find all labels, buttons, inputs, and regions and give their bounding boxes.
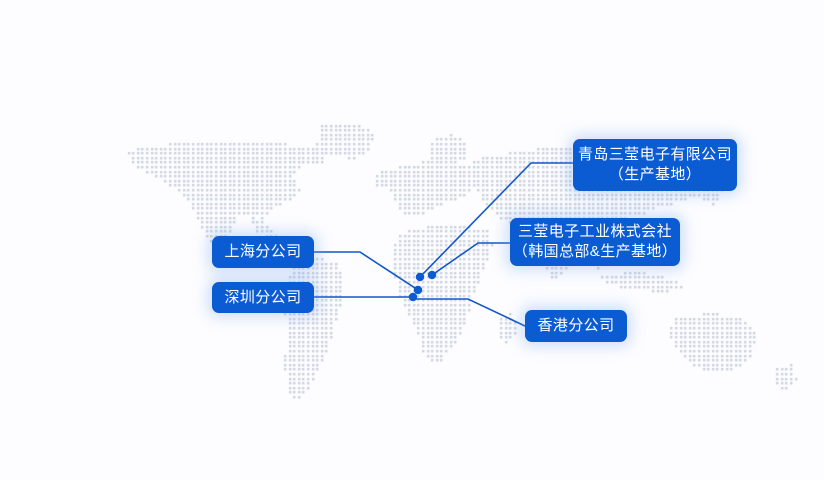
marker-shanghai-icon[interactable] xyxy=(414,286,422,294)
label-line-primary: 青岛三莹电子有限公司 xyxy=(578,145,732,165)
label-line-primary: 上海分公司 xyxy=(224,242,301,262)
location-label-shanghai-branch[interactable]: 上海分公司 xyxy=(212,236,314,268)
marker-korea-icon[interactable] xyxy=(428,271,436,279)
label-line-primary: 深圳分公司 xyxy=(224,288,301,308)
location-markers xyxy=(0,0,824,480)
location-label-hongkong-branch[interactable]: 香港分公司 xyxy=(525,310,627,342)
world-map-diagram: 青岛三莹电子有限公司（生产基地）三莹电子工业株式会社（韩国总部&生产基地）上海分… xyxy=(0,0,824,480)
location-label-qingdao-factory[interactable]: 青岛三莹电子有限公司（生产基地） xyxy=(573,139,737,191)
location-label-shenzhen-branch[interactable]: 深圳分公司 xyxy=(212,282,314,313)
location-label-korea-headquarters-and-factory[interactable]: 三莹电子工业株式会社（韩国总部&生产基地） xyxy=(510,218,680,266)
label-line-primary: 香港分公司 xyxy=(537,316,614,336)
label-line-primary: 三莹电子工业株式会社 xyxy=(518,222,672,242)
label-line-secondary: （生产基地） xyxy=(609,165,701,185)
marker-shenzhen-icon[interactable] xyxy=(409,293,417,301)
label-line-secondary: （韩国总部&生产基地） xyxy=(513,242,677,262)
marker-qingdao-icon[interactable] xyxy=(416,273,424,281)
